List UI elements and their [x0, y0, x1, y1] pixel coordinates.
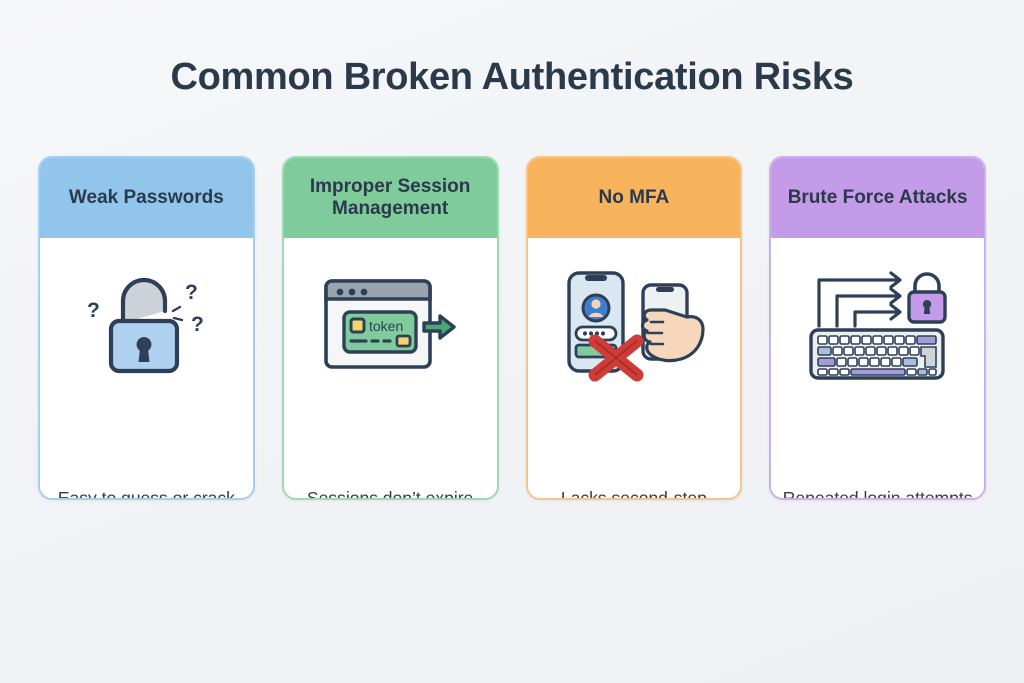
card-caption: Easy to guess or crack [50, 486, 243, 500]
page-title: Common Broken Authentication Risks [0, 56, 1024, 99]
risk-card-brute-force-attacks[interactable]: Brute Force Attacks [769, 156, 986, 500]
svg-text:?: ? [185, 281, 198, 304]
card-body: ? ? ? Easy to guess or crack [40, 238, 253, 498]
svg-text:?: ? [87, 299, 100, 322]
phone-login-red-x-hand-phone-icon [559, 264, 709, 384]
card-caption: Repeated login attempts [781, 486, 974, 500]
card-body: token Sessions don’t expire safely [284, 238, 497, 498]
infographic-page: Common Broken Authentication Risks Weak … [0, 0, 1024, 683]
card-title: Brute Force Attacks [771, 158, 984, 238]
risk-card-no-mfa[interactable]: No MFA [526, 156, 743, 500]
card-body: Repeated login attempts [771, 238, 984, 498]
risk-card-list: Weak Passwords ? ? ? [38, 156, 986, 500]
card-title: Weak Passwords [40, 158, 253, 238]
keyboard-arrows-padlock-icon [803, 264, 953, 384]
open-padlock-question-marks-icon: ? ? ? [81, 264, 211, 384]
browser-window-session-token-icon: token [320, 264, 460, 384]
card-body: Lacks second-step verification [528, 238, 741, 498]
token-label: token [369, 318, 403, 334]
risk-card-improper-session-management[interactable]: Improper Session Management token [282, 156, 499, 500]
svg-text:?: ? [191, 313, 204, 336]
card-caption: Lacks second-step verification [538, 486, 731, 500]
risk-card-weak-passwords[interactable]: Weak Passwords ? ? ? [38, 156, 255, 500]
card-title: No MFA [528, 158, 741, 238]
card-title: Improper Session Management [284, 158, 497, 238]
card-caption: Sessions don’t expire safely [294, 486, 487, 500]
